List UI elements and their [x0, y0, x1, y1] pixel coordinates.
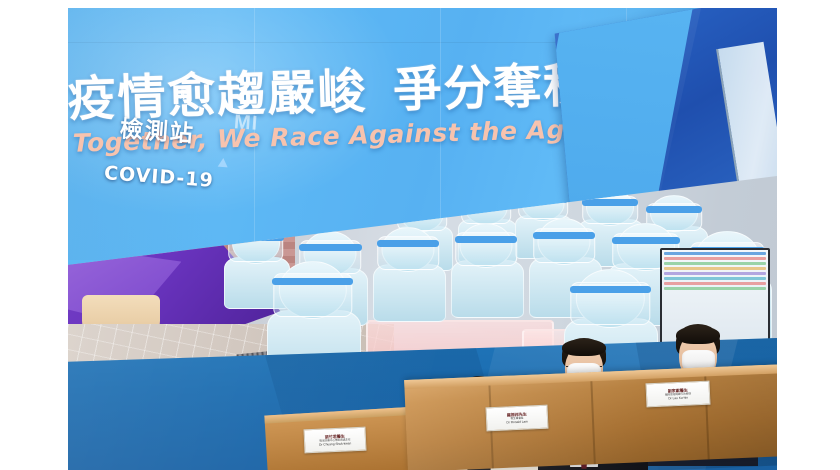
- headline-gap: [368, 107, 394, 108]
- monitor-row: [664, 277, 766, 280]
- face-shield-band: [455, 236, 517, 243]
- face-shield-band: [582, 199, 638, 206]
- face-shield-band: [646, 206, 702, 213]
- press-conference-photo: 疫情愈趨嚴峻爭分奪秒抗疫 Together, We Race Against t…: [68, 8, 777, 470]
- panel-table: [404, 362, 777, 470]
- ppe-gown: [373, 264, 446, 322]
- sign-chinese-text: 檢測站: [119, 109, 196, 148]
- screenshot-canvas: 疫情愈趨嚴峻爭分奪秒抗疫 Together, We Race Against t…: [0, 0, 840, 470]
- monitor-row: [664, 282, 766, 285]
- name-plate-left: 張竹君醫生 衞生防護中心傳染病處主任 Dr Chuang Shuk-kwan: [304, 427, 367, 454]
- sign-watermark-text: MI: [233, 111, 259, 136]
- name-plate-left-en: Dr Chuang Shuk-kwan: [319, 441, 351, 447]
- face-shield-band: [299, 244, 361, 251]
- face-shield-band: [570, 286, 651, 293]
- sign-triangle-icon: [218, 158, 229, 168]
- face-shield-band: [377, 240, 439, 247]
- monitor-row: [664, 257, 766, 260]
- ppe-gown: [451, 260, 524, 318]
- monitor-row: [664, 262, 766, 265]
- ppe-worker: [373, 227, 444, 320]
- name-plate-right-en: Dr Lau Ka-hin: [668, 396, 688, 401]
- face-shield-band: [533, 232, 595, 239]
- name-plate-right: 劉家獻醫生 醫院管理局總行政經理 Dr Lau Ka-hin: [646, 381, 711, 408]
- monitor-row: [664, 267, 766, 270]
- face-shield-band: [612, 237, 681, 244]
- name-plate-centre: 羅振邦先生 衞生署署長 Dr Ronald Lam: [486, 405, 549, 432]
- face-shield-band: [272, 278, 353, 285]
- monitor-row: [664, 272, 766, 275]
- headline-phrase-1: 疫情愈趨嚴峻: [68, 63, 368, 127]
- monitor-row: [664, 287, 766, 290]
- monitor-row: [664, 252, 766, 255]
- sign-small-text: 府: [179, 86, 192, 103]
- ppe-worker: [451, 223, 522, 316]
- hair-fringe: [562, 339, 606, 356]
- hair-fringe: [676, 326, 720, 344]
- name-plate-centre-en: Dr Ronald Lam: [506, 420, 528, 425]
